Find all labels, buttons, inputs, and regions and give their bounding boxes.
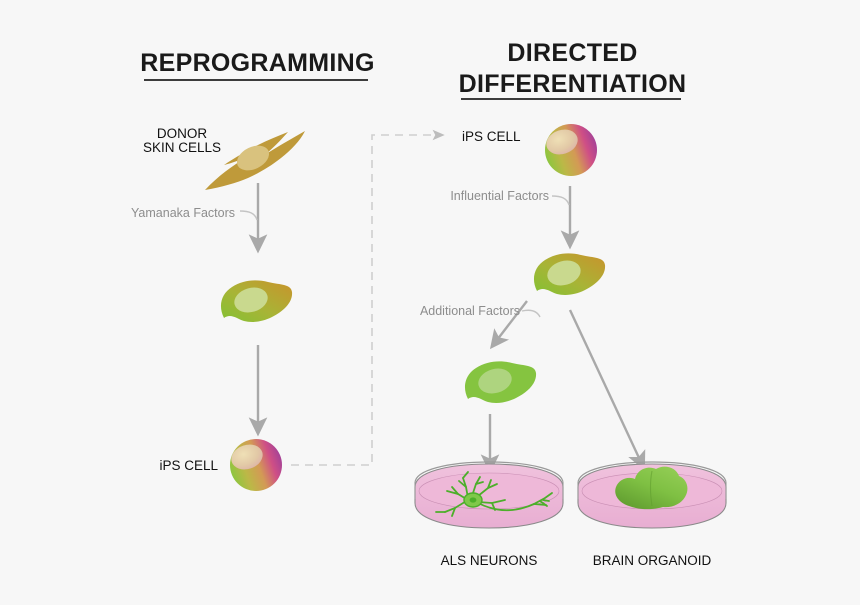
ips-cell-left-graphic [228, 439, 282, 491]
ips-cell-right-graphic [543, 124, 597, 176]
left-panel-title: REPROGRAMMING [115, 48, 400, 79]
right-panel-title-line1: DIRECTED [440, 38, 705, 69]
dashed-connector [291, 135, 438, 465]
right-panel-title-line2: DIFFERENTIATION [440, 69, 705, 100]
ips-cell-right-label: iPS CELL [462, 129, 542, 145]
ips-cell-left-label: iPS CELL [138, 458, 218, 474]
brain-organoid-label: BRAIN ORGANOID [572, 553, 732, 569]
influential-factors-label: Influential Factors [380, 189, 549, 204]
diagram-graphics [0, 0, 860, 605]
yamanaka-factors-label: Yamanaka Factors [60, 206, 235, 221]
neural-progenitor-cell-graphic [465, 361, 536, 403]
petri-dish-als-neurons-graphic [415, 462, 563, 528]
intermediate-cell-left-graphic [221, 280, 292, 322]
intermediate-cell-right-graphic [534, 253, 605, 295]
additional-factors-label: Additional Factors [348, 304, 520, 319]
right-title-underline [461, 98, 681, 100]
donor-skin-cells-label-line2: SKIN CELLS [132, 140, 232, 156]
petri-dish-brain-organoid-graphic [578, 462, 726, 528]
left-title-underline [144, 79, 368, 81]
figure-canvas: REPROGRAMMING DIRECTED DIFFERENTIATION D… [0, 0, 860, 605]
als-neurons-label: ALS NEURONS [409, 553, 569, 569]
